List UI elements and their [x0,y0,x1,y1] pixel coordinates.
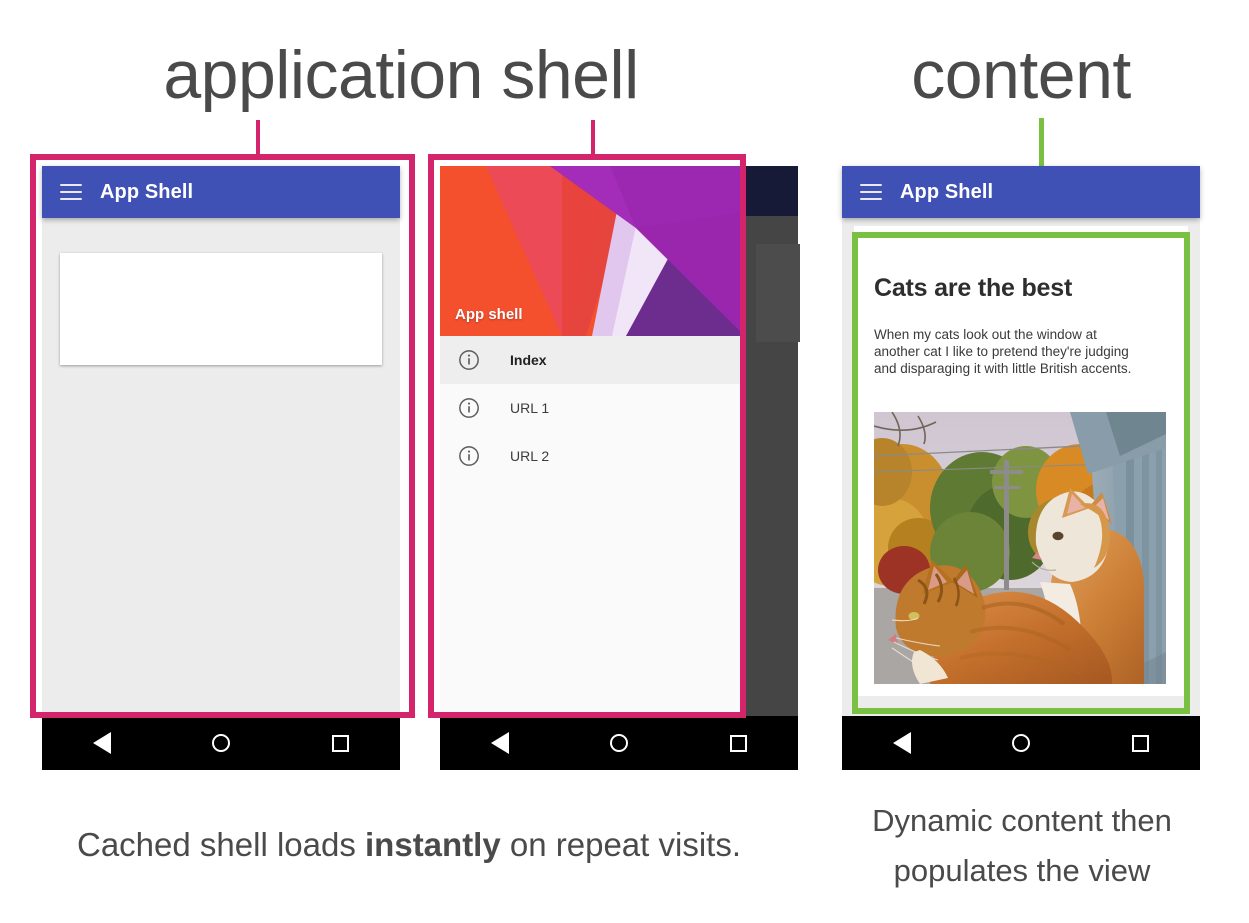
placeholder-card [60,253,382,365]
list-item-index[interactable]: Index [440,336,745,384]
android-navbar-phone-content [842,716,1200,770]
caption-left-pre: Cached shell loads [77,826,365,863]
home-circle-icon[interactable] [212,734,230,752]
home-circle-icon[interactable] [610,734,628,752]
article-photo [874,412,1166,684]
back-triangle-icon[interactable] [491,732,509,754]
list-item-label: Index [510,352,547,368]
android-navbar-phone-empty-shell [42,716,400,770]
shell-nav-list: Index URL 1 [440,336,745,716]
back-triangle-icon[interactable] [893,732,911,754]
article-card: Cats are the best When my cats look out … [854,226,1188,696]
article-title: Cats are the best [874,274,1072,303]
back-triangle-icon[interactable] [93,732,111,754]
screen-body-content: Cats are the best When my cats look out … [842,218,1200,716]
recents-square-icon[interactable] [1132,735,1149,752]
list-item-label: URL 2 [510,448,549,464]
phone-content: App Shell Cats are the best When my cats… [842,166,1200,770]
info-circle-icon [458,397,480,419]
hamburger-menu-icon[interactable] [60,184,82,200]
annotation-heading-application-shell: application shell [0,36,802,114]
connector-line-app-shell-right [591,120,595,160]
info-circle-icon [458,349,480,371]
info-circle-icon [458,445,480,467]
phone-empty-shell: App Shell [42,166,400,770]
caption-cached-shell: Cached shell loads instantly on repeat v… [0,824,818,866]
appbar-phone-content: App Shell [842,166,1200,218]
diagram-stage: application shell content App Shell [0,0,1249,923]
appbar-title: App Shell [100,181,193,204]
annotation-heading-content: content [838,36,1204,114]
caption-dynamic-content: Dynamic content then populates the view [828,796,1216,896]
caption-left-emphasis: instantly [365,826,501,863]
article-photo-artwork [874,412,1166,684]
recents-square-icon[interactable] [730,735,747,752]
backphone-appbar [742,166,798,216]
article-body: When my cats look out the window at anot… [874,326,1146,377]
screen-body-empty-shell [42,218,400,716]
appbar-title: App Shell [900,181,993,204]
recents-square-icon[interactable] [332,735,349,752]
caption-right-line-2: populates the view [828,846,1216,896]
hero-label: App shell [455,306,523,323]
phone-background-peek [742,166,798,770]
hero-image: App shell [440,166,745,336]
list-item-url-1[interactable]: URL 1 [440,384,745,432]
connector-line-app-shell-left [256,120,260,160]
list-item-label: URL 1 [510,400,549,416]
android-navbar-phone-app-shell-list [440,716,798,770]
phone-app-shell-list: App shell Index [440,166,745,770]
list-item-url-2[interactable]: URL 2 [440,432,745,480]
appbar-phone-empty-shell: App Shell [42,166,400,218]
caption-left-post: on repeat visits. [501,826,741,863]
backphone-card [756,244,800,342]
hamburger-menu-icon[interactable] [860,184,882,200]
caption-right-line-1: Dynamic content then [828,796,1216,846]
home-circle-icon[interactable] [1012,734,1030,752]
